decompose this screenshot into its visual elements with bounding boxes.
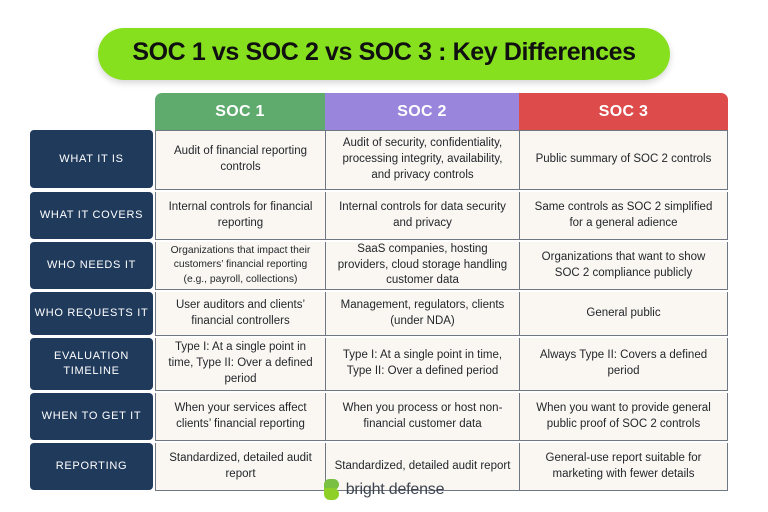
cell-soc3-evaluation-timeline: Always Type II: Covers a defined period <box>520 338 727 390</box>
cell-soc3-what-it-is: Public summary of SOC 2 controls <box>520 131 727 189</box>
row-cells: Type I: At a single point in time, Type … <box>155 338 728 391</box>
comparison-table: SOC 1 SOC 2 SOC 3 WHAT IT IS Audit of fi… <box>30 93 728 491</box>
table-row: WHEN TO GET IT When your services affect… <box>30 393 728 441</box>
table-body: WHAT IT IS Audit of financial reporting … <box>30 130 728 491</box>
cell-soc1-evaluation-timeline: Type I: At a single point in time, Type … <box>156 338 326 390</box>
cell-soc2-evaluation-timeline: Type I: At a single point in time, Type … <box>326 338 520 390</box>
row-cells: User auditors and clients’ financial con… <box>155 292 728 336</box>
cell-soc3-who-requests-it: General public <box>520 292 727 335</box>
cell-soc2-who-requests-it: Management, regulators, clients (under N… <box>326 292 520 335</box>
title-pill: SOC 1 vs SOC 2 vs SOC 3 : Key Difference… <box>98 28 669 80</box>
cell-soc3-who-needs-it: Organizations that want to show SOC 2 co… <box>520 242 727 289</box>
logo-lobe-bottom <box>324 488 339 500</box>
page-title: SOC 1 vs SOC 2 vs SOC 3 : Key Difference… <box>132 39 635 67</box>
footer-branding: bright defense <box>0 479 768 500</box>
row-label-what-it-covers: WHAT IT COVERS <box>30 192 153 239</box>
table-row: WHAT IT IS Audit of financial reporting … <box>30 130 728 190</box>
cell-soc2-who-needs-it: SaaS companies, hosting providers, cloud… <box>326 242 520 289</box>
cell-soc1-what-it-covers: Internal controls for financial reportin… <box>156 192 326 239</box>
row-cells: Audit of financial reporting controls Au… <box>155 130 728 190</box>
row-label-evaluation-timeline: EVALUATION TIMELINE <box>30 338 153 390</box>
cell-soc1-what-it-is: Audit of financial reporting controls <box>156 131 326 189</box>
cell-soc1-when-to-get-it: When your services affect clients’ finan… <box>156 393 326 440</box>
title-banner: SOC 1 vs SOC 2 vs SOC 3 : Key Difference… <box>0 28 768 80</box>
row-cells: When your services affect clients’ finan… <box>155 393 728 441</box>
table-row: WHO NEEDS IT Organizations that impact t… <box>30 242 728 290</box>
row-cells: Internal controls for financial reportin… <box>155 192 728 240</box>
column-header-soc2: SOC 2 <box>325 93 519 130</box>
column-header-soc3: SOC 3 <box>519 93 728 130</box>
cell-soc1-who-needs-it: Organizations that impact their customer… <box>156 242 326 289</box>
table-header-row: SOC 1 SOC 2 SOC 3 <box>155 93 728 130</box>
cell-soc2-what-it-covers: Internal controls for data security and … <box>326 192 520 239</box>
cell-soc3-when-to-get-it: When you want to provide general public … <box>520 393 727 440</box>
row-label-when-to-get-it: WHEN TO GET IT <box>30 393 153 440</box>
table-row: EVALUATION TIMELINE Type I: At a single … <box>30 338 728 391</box>
cell-soc2-what-it-is: Audit of security, confidentiality, proc… <box>326 131 520 189</box>
cell-soc3-what-it-covers: Same controls as SOC 2 simplified for a … <box>520 192 727 239</box>
column-header-soc1: SOC 1 <box>155 93 325 130</box>
row-label-what-it-is: WHAT IT IS <box>30 130 153 188</box>
table-row: WHAT IT COVERS Internal controls for fin… <box>30 192 728 240</box>
row-cells: Organizations that impact their customer… <box>155 242 728 290</box>
row-label-who-needs-it: WHO NEEDS IT <box>30 242 153 289</box>
row-label-who-requests-it: WHO REQUESTS IT <box>30 292 153 335</box>
cell-soc1-who-requests-it: User auditors and clients’ financial con… <box>156 292 326 335</box>
brand-name: bright defense <box>346 481 445 499</box>
bright-defense-logo-icon <box>324 479 339 500</box>
table-row: WHO REQUESTS IT User auditors and client… <box>30 292 728 336</box>
cell-soc2-when-to-get-it: When you process or host non-financial c… <box>326 393 520 440</box>
